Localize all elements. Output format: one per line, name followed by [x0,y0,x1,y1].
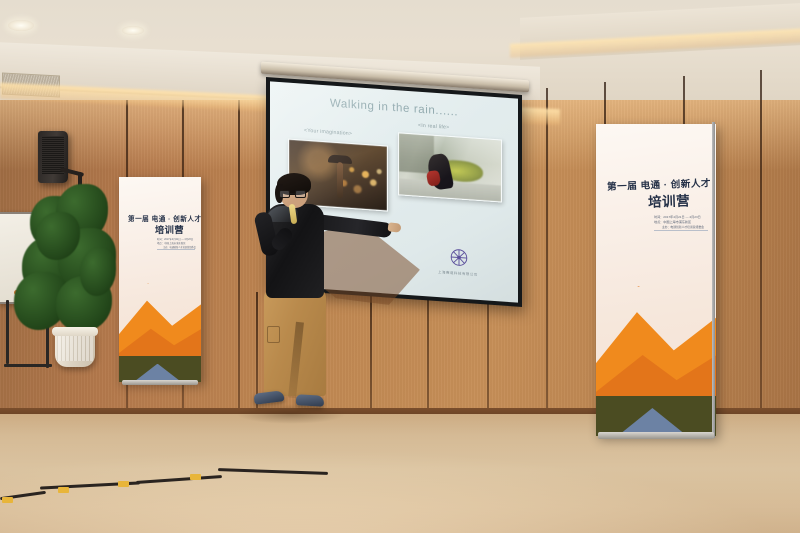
cable-tape-marker [2,497,13,503]
plant-pot [55,330,95,367]
glasses-icon [279,190,308,198]
glasses-lens-right [295,190,306,198]
slide-image-real-life [398,132,502,202]
banner-artwork [119,267,201,382]
presenter-shoe-left [253,390,284,405]
wall-panel-seam [546,88,548,424]
banner-title-line2: 培训营 [155,222,184,236]
cable-tape-marker [190,474,201,480]
slide-title: Walking in the rain...... [330,98,458,119]
banner-artwork [596,261,716,436]
presenter-shoe-right [296,394,325,406]
ceiling-downlight-icon [8,20,34,31]
presenter [236,176,396,421]
red-bag-icon [425,170,441,186]
wall-panel-seam [760,70,762,422]
banner-base-right [598,432,714,439]
glasses-lens-left [279,190,290,198]
whiteboard-leg [6,300,9,364]
snowflake-star-icon [448,246,470,270]
banner-support-pole [712,122,715,438]
presenter-right-arm [315,214,392,238]
whiteboard-foot [4,364,52,367]
pot-ridges [57,336,93,361]
ceiling-downlight-icon [122,26,144,35]
banner-title-line2: 培训营 [648,189,691,210]
presenter-right-hand [388,222,402,233]
slide-logo-caption: 上海赛道科技有限公司 [438,269,478,277]
wall-speaker [38,131,68,183]
day-rain-photo [399,133,501,201]
cable-tape-marker [118,481,129,487]
banner-subtitle-line2: 地点：中国上海市浦东新区 [654,219,691,224]
presenter-cargo-pocket [267,326,280,343]
slide-caption-left: <Your imagination> [304,128,352,137]
cable-tape-marker [58,487,69,493]
banner-base-left [122,380,198,385]
glasses-bridge [290,193,295,194]
banner-divider-rule [157,249,195,250]
conference-room-photo: 第一届 电通 · 创新人才 培训营 时间：2017年4月21日 — 4月23日 … [0,0,800,533]
banner-divider-rule [654,230,708,231]
banner-subtitle-line3: 主办：电通创新人才培训营组委会 [662,225,704,229]
roll-up-banner-left: 第一届 电通 · 创新人才 培训营 时间：2017年4月21日 — 4月23日 … [119,177,201,382]
roll-up-banner-right: 第一届 电通 · 创新人才 培训营 时间：2017年4月21日 — 4月23日 … [596,124,716,436]
slide-caption-right: <In real life> [418,123,449,131]
